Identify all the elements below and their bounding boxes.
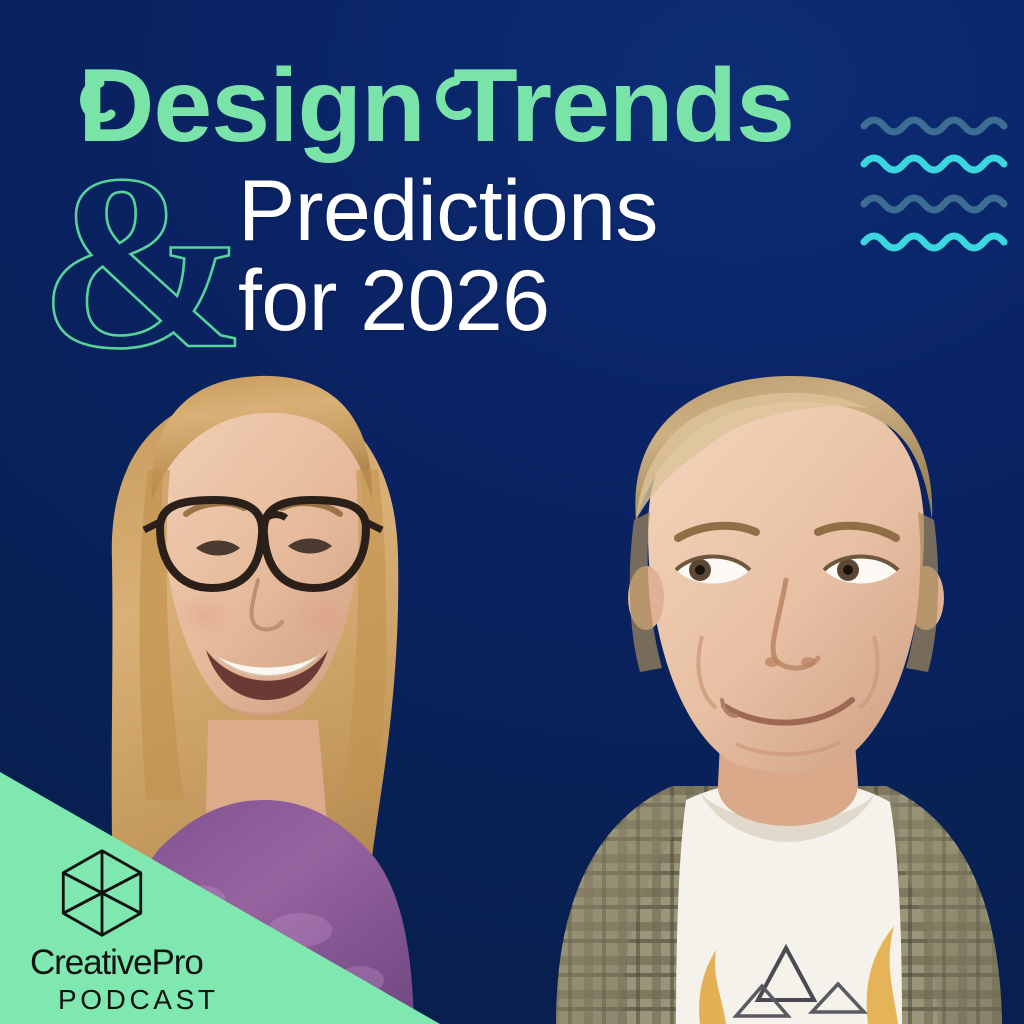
headline-for-2026: for 2026 [238, 256, 550, 346]
logo-wordmark: CreativePro [30, 943, 250, 983]
wave-line-4 [864, 236, 1004, 248]
wave-decoration [860, 112, 1020, 262]
wave-line-2 [864, 158, 1004, 170]
headline-predictions: Predictions [238, 166, 658, 256]
title-block: Design Trends & Predictions for 2026 [0, 0, 830, 370]
ampersand-decoration: & [48, 160, 238, 365]
ampersand-glyph: & [39, 124, 247, 401]
hexagon-cube-icon [58, 847, 146, 939]
host-right [556, 376, 1002, 1024]
creativepro-podcast-logo[interactable]: CreativePro PODCAST [30, 847, 250, 1016]
podcast-cover-art: Design Trends & Predictions for 2026 [0, 0, 1024, 1024]
wave-line-1 [864, 120, 1004, 132]
wave-line-3 [864, 198, 1004, 210]
logo-subtitle: PODCAST [58, 984, 250, 1016]
